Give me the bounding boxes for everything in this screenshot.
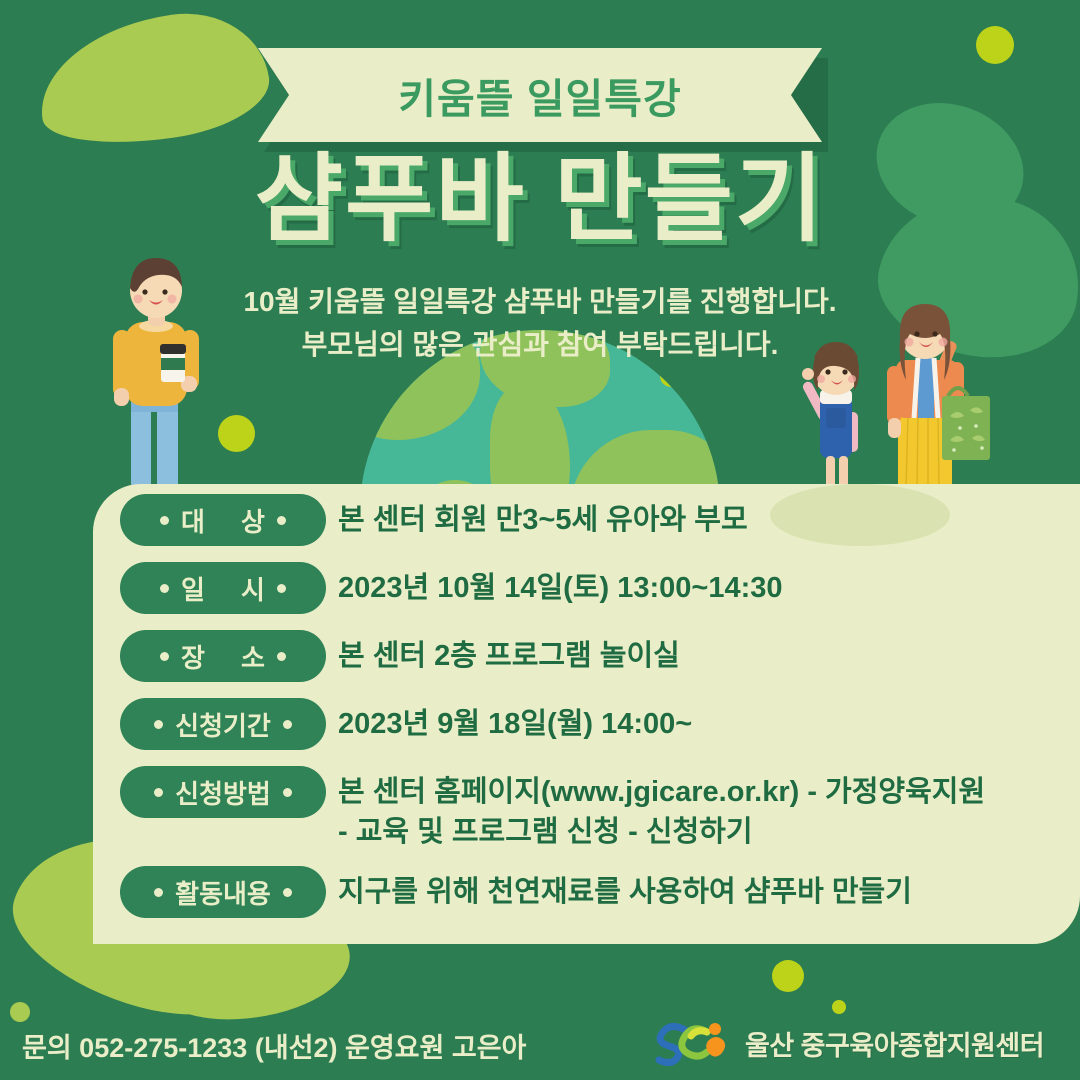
info-row-datetime: 일 시 2023년 10월 14일(토) 13:00~14:30	[120, 562, 1060, 614]
label-text: 대 상	[181, 502, 265, 539]
label-text: 신청기간	[175, 706, 271, 743]
ribbon-banner: 키움뜰 일일특강	[258, 48, 822, 142]
center-logo-icon	[655, 1020, 733, 1066]
poster-canvas: 키움뜰 일일특강 샴푸바 만들기 10월 키움뜰 일일특강 샴푸바 만들기를 진…	[0, 0, 1080, 1080]
label-pill-application-method: 신청방법	[120, 766, 326, 818]
man-with-coffee-illustration	[95, 252, 215, 502]
info-rows-list: 대 상 본 센터 회원 만3~5세 유아와 부모 일 시 2023년 10월 1…	[120, 494, 1060, 934]
bullet-right-icon	[277, 584, 286, 593]
ribbon-label: 키움뜰 일일특강	[398, 65, 681, 125]
bullet-left-icon	[154, 720, 163, 729]
bullet-right-icon	[283, 788, 292, 797]
bullet-left-icon	[160, 584, 169, 593]
dot-decoration-4-icon	[832, 1000, 846, 1014]
bullet-left-icon	[160, 516, 169, 525]
organization-name: 울산 중구육아종합지원센터	[745, 1024, 1044, 1063]
bullet-right-icon	[277, 652, 286, 661]
page-title: 샴푸바 만들기	[0, 150, 1080, 251]
bullet-right-icon	[277, 516, 286, 525]
label-text: 신청방법	[175, 774, 271, 811]
bullet-left-icon	[154, 888, 163, 897]
organization-logo-block: 울산 중구육아종합지원센터	[655, 1020, 1044, 1066]
label-pill-location: 장 소	[120, 630, 326, 682]
info-row-location: 장 소 본 센터 2층 프로그램 놀이실	[120, 630, 1060, 682]
value-text-target: 본 센터 회원 만3~5세 유아와 부모	[338, 494, 1060, 540]
label-text: 장 소	[181, 638, 265, 675]
bullet-right-icon	[283, 888, 292, 897]
dot-decoration-1-icon	[976, 26, 1014, 64]
label-pill-application-period: 신청기간	[120, 698, 326, 750]
bullet-left-icon	[154, 788, 163, 797]
leaf-blob-top-left-icon	[31, 3, 276, 156]
value-text-application-method: 본 센터 홈페이지(www.jgicare.or.kr) - 가정양육지원 - …	[338, 766, 1060, 852]
label-pill-activity: 활동내용	[120, 866, 326, 918]
ribbon-shape: 키움뜰 일일특강	[258, 48, 822, 142]
info-row-activity: 활동내용 지구를 위해 천연재료를 사용하여 샴푸바 만들기	[120, 866, 1060, 918]
value-line-2: - 교육 및 프로그램 신청 - 신청하기	[338, 812, 1060, 852]
label-text: 활동내용	[175, 874, 271, 911]
value-text-activity: 지구를 위해 천연재료를 사용하여 샴푸바 만들기	[338, 866, 1060, 912]
value-line-1: 본 센터 홈페이지(www.jgicare.or.kr) - 가정양육지원	[338, 772, 1060, 812]
info-row-application-method: 신청방법 본 센터 홈페이지(www.jgicare.or.kr) - 가정양육…	[120, 766, 1060, 852]
dot-decoration-3-icon	[772, 960, 804, 992]
contact-info: 문의 052-275-1233 (내선2) 운영요원 고은아	[22, 1026, 526, 1065]
value-text-location: 본 센터 2층 프로그램 놀이실	[338, 630, 1060, 676]
value-text-application-period: 2023년 9월 18일(월) 14:00~	[338, 698, 1060, 744]
label-text: 일 시	[181, 570, 265, 607]
info-row-target: 대 상 본 센터 회원 만3~5세 유아와 부모	[120, 494, 1060, 546]
dot-decoration-2-icon	[218, 415, 255, 452]
label-pill-target: 대 상	[120, 494, 326, 546]
info-row-application-period: 신청기간 2023년 9월 18일(월) 14:00~	[120, 698, 1060, 750]
label-pill-datetime: 일 시	[120, 562, 326, 614]
bullet-left-icon	[160, 652, 169, 661]
dot-decoration-5-icon	[10, 1002, 30, 1022]
value-text-datetime: 2023년 10월 14일(토) 13:00~14:30	[338, 562, 1060, 608]
bullet-right-icon	[283, 720, 292, 729]
